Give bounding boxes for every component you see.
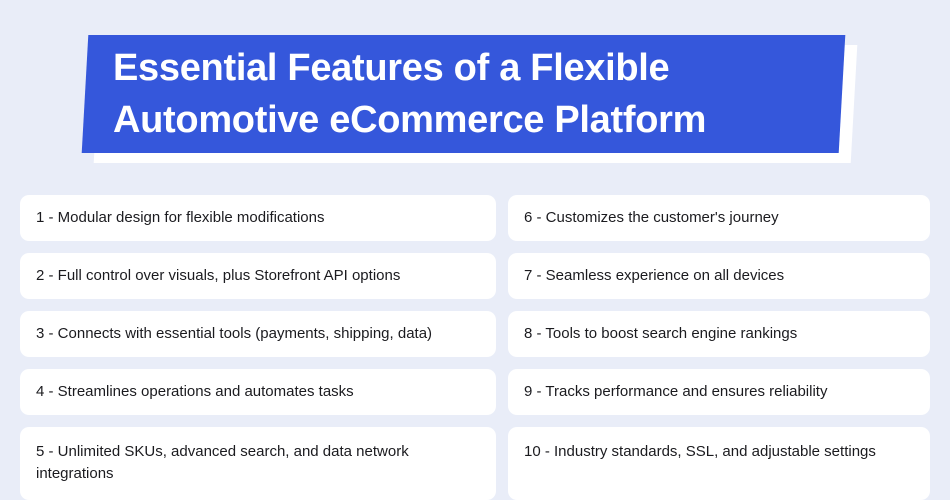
feature-card-label: 5 - Unlimited SKUs, advanced search, and… — [36, 441, 480, 485]
feature-card[interactable]: 8 - Tools to boost search engine ranking… — [508, 311, 930, 357]
page-title-line-2: Automotive eCommerce Platform — [113, 94, 855, 146]
features-grid: 1 - Modular design for flexible modifica… — [20, 195, 930, 500]
feature-card-label: 2 - Full control over visuals, plus Stor… — [36, 265, 400, 287]
feature-card-label: 8 - Tools to boost search engine ranking… — [524, 323, 797, 345]
feature-card[interactable]: 3 - Connects with essential tools (payme… — [20, 311, 496, 357]
features-column-right: 6 - Customizes the customer's journey7 -… — [508, 195, 930, 500]
feature-card-label: 6 - Customizes the customer's journey — [524, 207, 779, 229]
feature-card[interactable]: 7 - Seamless experience on all devices — [508, 253, 930, 299]
feature-card[interactable]: 4 - Streamlines operations and automates… — [20, 369, 496, 415]
feature-card[interactable]: 1 - Modular design for flexible modifica… — [20, 195, 496, 241]
feature-card-label: 4 - Streamlines operations and automates… — [36, 381, 354, 403]
page-title: Essential Features of a Flexible Automot… — [85, 35, 855, 153]
feature-card[interactable]: 6 - Customizes the customer's journey — [508, 195, 930, 241]
feature-card[interactable]: 9 - Tracks performance and ensures relia… — [508, 369, 930, 415]
header-banner: Essential Features of a Flexible Automot… — [0, 0, 950, 180]
feature-card[interactable]: 5 - Unlimited SKUs, advanced search, and… — [20, 427, 496, 500]
feature-card-label: 3 - Connects with essential tools (payme… — [36, 323, 432, 345]
page-title-line-1: Essential Features of a Flexible — [113, 42, 855, 94]
feature-card[interactable]: 2 - Full control over visuals, plus Stor… — [20, 253, 496, 299]
feature-card-label: 1 - Modular design for flexible modifica… — [36, 207, 324, 229]
feature-card-label: 9 - Tracks performance and ensures relia… — [524, 381, 827, 403]
feature-card-label: 10 - Industry standards, SSL, and adjust… — [524, 441, 876, 463]
features-column-left: 1 - Modular design for flexible modifica… — [20, 195, 496, 500]
feature-card-label: 7 - Seamless experience on all devices — [524, 265, 784, 287]
feature-card[interactable]: 10 - Industry standards, SSL, and adjust… — [508, 427, 930, 500]
